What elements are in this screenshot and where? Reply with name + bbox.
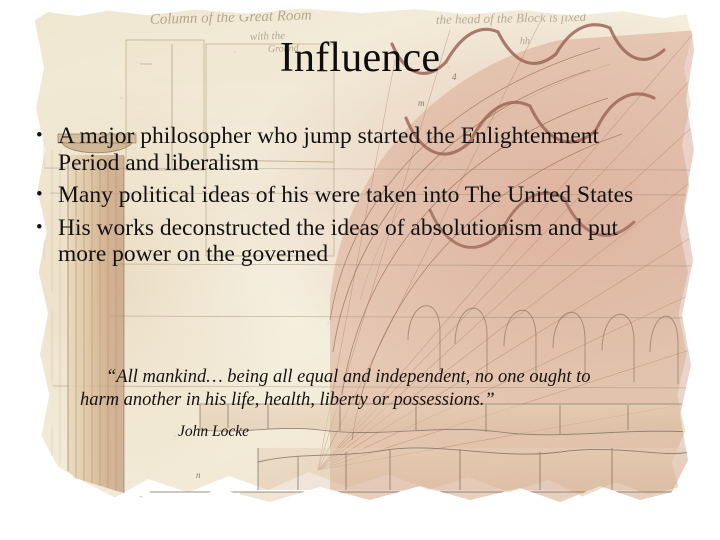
slide-canvas: Column of the Great Room with the Ground…	[0, 0, 720, 540]
svg-text:m: m	[418, 98, 425, 108]
slide-title: Influence	[0, 36, 720, 80]
svg-text:the head of the Block is fixed: the head of the Block is fixed	[436, 9, 587, 27]
bullet-item: • His works deconstructed the ideas of a…	[36, 215, 660, 268]
svg-text:n: n	[196, 470, 201, 480]
quote-text: “All mankind… being all equal and indepe…	[80, 366, 610, 413]
bullet-marker-icon: •	[36, 182, 58, 207]
bullet-text: A major philosopher who jump started the…	[58, 123, 660, 176]
bullet-marker-icon: •	[36, 123, 58, 148]
bullet-item: • A major philosopher who jump started t…	[36, 123, 660, 176]
bullet-marker-icon: •	[36, 215, 58, 240]
svg-text:Column of the Great Room: Column of the Great Room	[150, 7, 312, 28]
bullet-text: Many political ideas of his were taken i…	[58, 182, 660, 209]
bullet-text: His works deconstructed the ideas of abs…	[58, 215, 660, 268]
bullet-item: • Many political ideas of his were taken…	[36, 182, 660, 209]
quote-attribution: John Locke	[178, 423, 610, 441]
quotation-block: “All mankind… being all equal and indepe…	[80, 366, 610, 441]
bullet-list: • A major philosopher who jump started t…	[36, 123, 660, 274]
